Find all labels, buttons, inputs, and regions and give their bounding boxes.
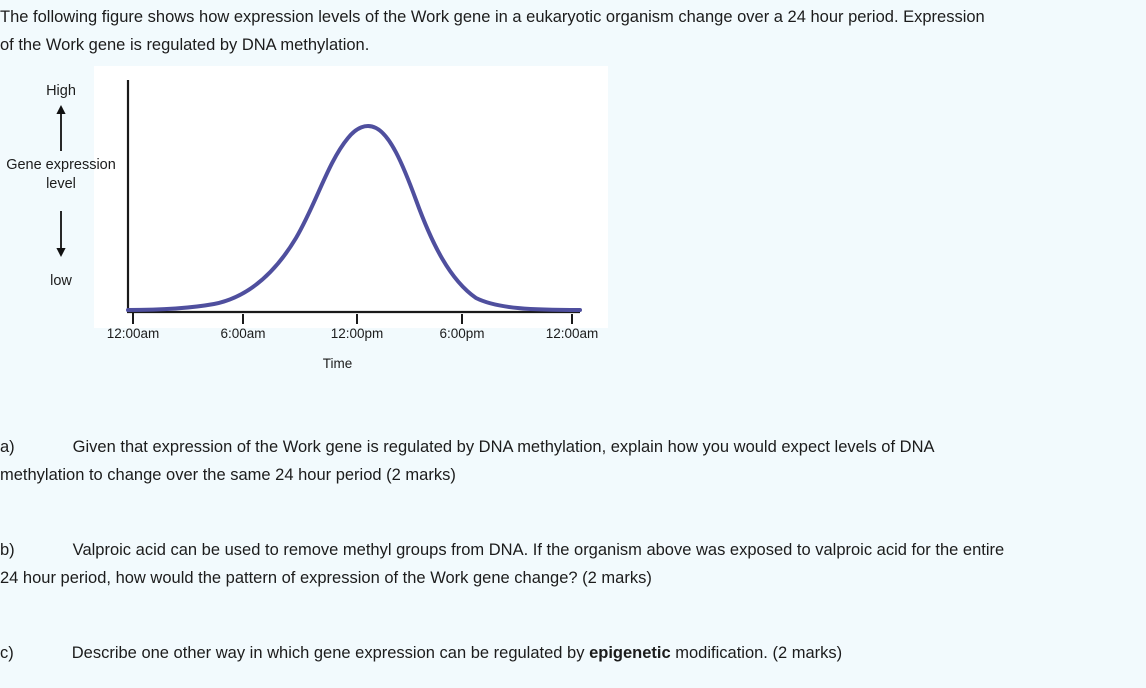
intro-paragraph: The following figure shows how expressio… [0,3,1146,59]
question-b: b)Valproic acid can be used to remove me… [0,536,1146,592]
question-c-text-post: modification. (2 marks) [671,644,842,662]
gene-expression-figure: High Gene expression level low 12:00am [0,62,640,392]
x-axis-title: Time [0,356,675,371]
x-tick-label-2: 12:00pm [331,326,384,341]
x-tick-label-1: 6:00am [220,326,265,341]
question-c-emphasis: epigenetic [589,644,671,662]
question-c: c)Describe one other way in which gene e… [0,639,1146,667]
question-b-marker: b) [0,541,15,559]
x-axis-ticks [133,313,572,324]
question-c-text-pre: Describe one other way in which gene exp… [72,644,589,662]
x-tick-label-3: 6:00pm [439,326,484,341]
question-a-marker: a) [0,438,15,456]
question-a: a)Given that expression of the Work gene… [0,433,1146,489]
expression-curve [128,126,580,310]
question-c-line-1: c)Describe one other way in which gene e… [0,639,1146,667]
expression-curve-plot [94,66,608,328]
intro-line-1: The following figure shows how expressio… [0,3,1146,31]
intro-line-2: of the Work gene is regulated by DNA met… [0,31,1146,59]
x-tick-label-4: 12:00am [546,326,599,341]
x-tick-label-0: 12:00am [107,326,160,341]
arrow-up-icon [54,104,68,152]
arrow-down-icon [54,210,68,258]
question-b-line-2: 24 hour period, how would the pattern of… [0,564,1146,592]
question-b-text-1: Valproic acid can be used to remove meth… [73,541,1005,559]
x-axis-tick-labels: 12:00am 6:00am 12:00pm 6:00pm 12:00am [94,326,608,348]
question-c-marker: c) [0,644,14,662]
question-a-line-1: a)Given that expression of the Work gene… [0,433,1146,461]
question-b-line-1: b)Valproic acid can be used to remove me… [0,536,1146,564]
question-a-line-2: methylation to change over the same 24 h… [0,461,1146,489]
question-a-text-1: Given that expression of the Work gene i… [73,438,935,456]
